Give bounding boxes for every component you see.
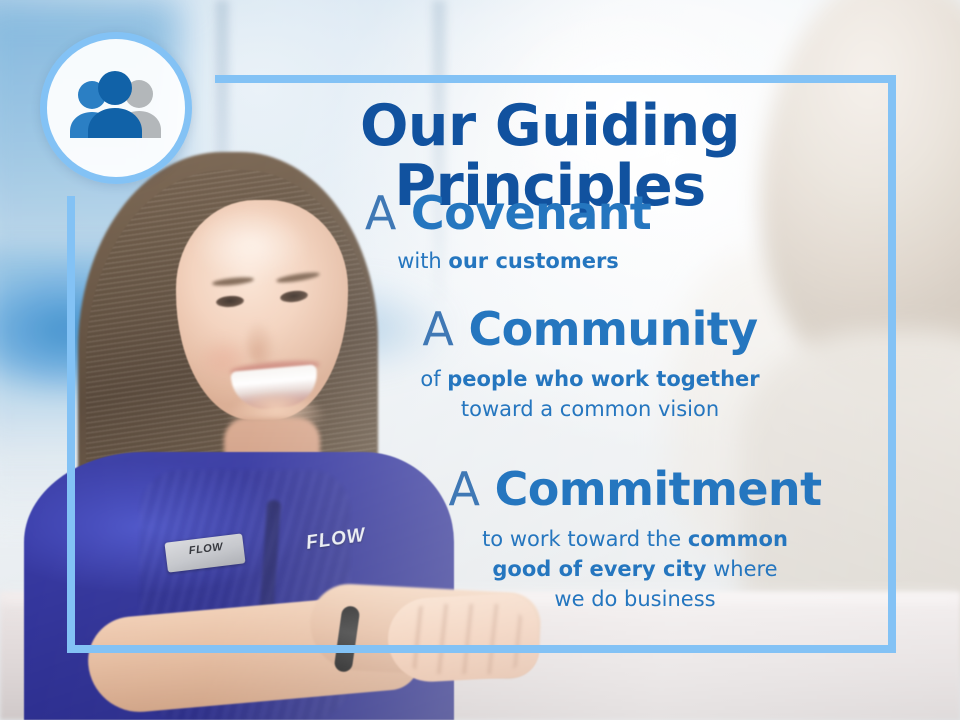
- subtext-run: where: [706, 557, 777, 581]
- principle-heading: A Covenant: [258, 186, 758, 240]
- subtext-run: with: [397, 249, 448, 273]
- principle-keyword: Community: [469, 302, 758, 356]
- principle-block-covenant: A Covenant with our customers: [258, 186, 758, 276]
- principle-subtext: with our customers: [258, 246, 758, 276]
- principle-subtext: of people who work togethertoward a comm…: [330, 364, 850, 424]
- principle-lead-word: A: [449, 462, 480, 516]
- subtext-emphasis: our customers: [448, 249, 618, 273]
- content-layer: Our Guiding Principles A Covenant with o…: [0, 0, 960, 720]
- subtext-run: toward a common vision: [461, 397, 719, 421]
- principle-heading: A Community: [330, 302, 850, 356]
- subtext-emphasis: common: [688, 527, 788, 551]
- subtext-run: we do business: [554, 587, 715, 611]
- principle-subtext: to work toward the commongood of every c…: [370, 524, 900, 614]
- principle-lead-word: A: [422, 302, 453, 356]
- subtext-run: to work toward the: [482, 527, 688, 551]
- principle-keyword: Commitment: [495, 462, 822, 516]
- principle-lead-word: A: [365, 186, 396, 240]
- principle-keyword: Covenant: [411, 186, 651, 240]
- subtext-emphasis: people who work together: [447, 367, 759, 391]
- principle-block-commitment: A Commitment to work toward the commongo…: [370, 462, 900, 614]
- subtext-emphasis: good of every city: [492, 557, 706, 581]
- subtext-run: of: [420, 367, 447, 391]
- guiding-principles-banner: FLOW FLOW: [0, 0, 960, 720]
- principle-heading: A Commitment: [370, 462, 900, 516]
- principle-block-community: A Community of people who work togethert…: [330, 302, 850, 424]
